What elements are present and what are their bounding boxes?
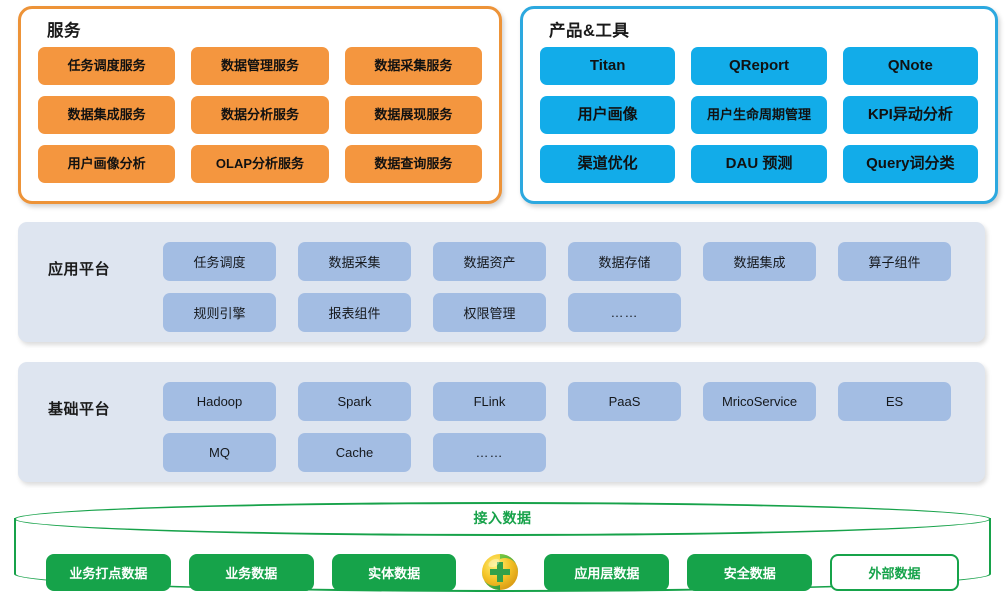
ingest-tile[interactable]: 应用层数据 bbox=[544, 554, 669, 591]
products-row: 用户画像 用户生命周期管理 KPI异动分析 bbox=[540, 96, 978, 134]
product-tile[interactable]: QNote bbox=[843, 47, 978, 85]
product-tile[interactable]: QReport bbox=[691, 47, 826, 85]
products-panel-title: 产品&工具 bbox=[549, 17, 629, 41]
service-tile[interactable]: 数据分析服务 bbox=[191, 96, 328, 134]
service-tile[interactable]: 数据展现服务 bbox=[345, 96, 482, 134]
shield-plus-360-icon bbox=[474, 546, 526, 598]
base-platform-chip[interactable]: MricoService bbox=[703, 382, 816, 421]
product-tile[interactable]: 用户画像 bbox=[540, 96, 675, 134]
base-platform-chip[interactable]: FLink bbox=[433, 382, 546, 421]
service-tile[interactable]: OLAP分析服务 bbox=[191, 145, 328, 183]
product-tile[interactable]: DAU 预测 bbox=[691, 145, 826, 183]
product-tile[interactable]: Titan bbox=[540, 47, 675, 85]
products-tools-panel: 产品&工具 Titan QReport QNote 用户画像 用户生命周期管理 … bbox=[520, 6, 998, 204]
application-platform-row: 任务调度 数据采集 数据资产 数据存储 数据集成 算子组件 bbox=[163, 242, 965, 281]
application-platform-rows: 任务调度 数据采集 数据资产 数据存储 数据集成 算子组件 规则引擎 报表组件 … bbox=[163, 242, 965, 332]
base-platform-label: 基础平台 bbox=[48, 398, 110, 419]
ingest-data-cylinder: 接入数据 业务打点数据 业务数据 实体数据 bbox=[14, 502, 991, 592]
base-platform-chip-more[interactable]: …… bbox=[433, 433, 546, 472]
ingest-tile[interactable]: 业务数据 bbox=[189, 554, 314, 591]
base-platform-chip[interactable]: PaaS bbox=[568, 382, 681, 421]
services-row: 任务调度服务 数据管理服务 数据采集服务 bbox=[38, 47, 482, 85]
app-platform-chip[interactable]: 权限管理 bbox=[433, 293, 546, 332]
base-platform-band: 基础平台 Hadoop Spark FLink PaaS MricoServic… bbox=[18, 362, 985, 482]
products-row: 渠道优化 DAU 预测 Query词分类 bbox=[540, 145, 978, 183]
base-platform-rows: Hadoop Spark FLink PaaS MricoService ES … bbox=[163, 382, 965, 472]
application-platform-row: 规则引擎 报表组件 权限管理 …… bbox=[163, 293, 965, 332]
base-platform-chip[interactable]: Spark bbox=[298, 382, 411, 421]
product-tile[interactable]: KPI异动分析 bbox=[843, 96, 978, 134]
services-panel-title: 服务 bbox=[47, 17, 81, 41]
product-tile[interactable]: 渠道优化 bbox=[540, 145, 675, 183]
app-platform-chip-more[interactable]: …… bbox=[568, 293, 681, 332]
services-panel: 服务 任务调度服务 数据管理服务 数据采集服务 数据集成服务 数据分析服务 数据… bbox=[18, 6, 502, 204]
services-tile-grid: 任务调度服务 数据管理服务 数据采集服务 数据集成服务 数据分析服务 数据展现服… bbox=[21, 47, 499, 183]
base-platform-chip[interactable]: Cache bbox=[298, 433, 411, 472]
products-row: Titan QReport QNote bbox=[540, 47, 978, 85]
ingest-tile[interactable]: 安全数据 bbox=[687, 554, 812, 591]
product-tile[interactable]: Query词分类 bbox=[843, 145, 978, 183]
app-platform-chip[interactable]: 数据存储 bbox=[568, 242, 681, 281]
ingest-title: 接入数据 bbox=[14, 508, 991, 528]
top-panels-row: 服务 任务调度服务 数据管理服务 数据采集服务 数据集成服务 数据分析服务 数据… bbox=[0, 0, 1005, 210]
app-platform-chip[interactable]: 数据采集 bbox=[298, 242, 411, 281]
base-platform-row: MQ Cache …… bbox=[163, 433, 965, 472]
service-tile[interactable]: 用户画像分析 bbox=[38, 145, 175, 183]
services-row: 用户画像分析 OLAP分析服务 数据查询服务 bbox=[38, 145, 482, 183]
ingest-tile-external[interactable]: 外部数据 bbox=[830, 554, 959, 591]
services-row: 数据集成服务 数据分析服务 数据展现服务 bbox=[38, 96, 482, 134]
service-tile[interactable]: 数据管理服务 bbox=[191, 47, 328, 85]
app-platform-chip[interactable]: 数据资产 bbox=[433, 242, 546, 281]
base-platform-chip[interactable]: Hadoop bbox=[163, 382, 276, 421]
app-platform-chip[interactable]: 报表组件 bbox=[298, 293, 411, 332]
app-platform-chip[interactable]: 任务调度 bbox=[163, 242, 276, 281]
service-tile[interactable]: 数据采集服务 bbox=[345, 47, 482, 85]
product-tile[interactable]: 用户生命周期管理 bbox=[691, 96, 826, 134]
ingest-tile[interactable]: 实体数据 bbox=[332, 554, 457, 591]
application-platform-label: 应用平台 bbox=[48, 258, 110, 279]
app-platform-chip[interactable]: 算子组件 bbox=[838, 242, 951, 281]
ingest-tile[interactable]: 业务打点数据 bbox=[46, 554, 171, 591]
service-tile[interactable]: 数据集成服务 bbox=[38, 96, 175, 134]
service-tile[interactable]: 数据查询服务 bbox=[345, 145, 482, 183]
app-platform-chip[interactable]: 规则引擎 bbox=[163, 293, 276, 332]
base-platform-row: Hadoop Spark FLink PaaS MricoService ES bbox=[163, 382, 965, 421]
service-tile[interactable]: 任务调度服务 bbox=[38, 47, 175, 85]
application-platform-band: 应用平台 任务调度 数据采集 数据资产 数据存储 数据集成 算子组件 规则引擎 … bbox=[18, 222, 985, 342]
products-tile-grid: Titan QReport QNote 用户画像 用户生命周期管理 KPI异动分… bbox=[523, 47, 995, 183]
app-platform-chip[interactable]: 数据集成 bbox=[703, 242, 816, 281]
base-platform-chip[interactable]: ES bbox=[838, 382, 951, 421]
ingest-items: 业务打点数据 业务数据 实体数据 bbox=[46, 546, 959, 598]
base-platform-chip[interactable]: MQ bbox=[163, 433, 276, 472]
